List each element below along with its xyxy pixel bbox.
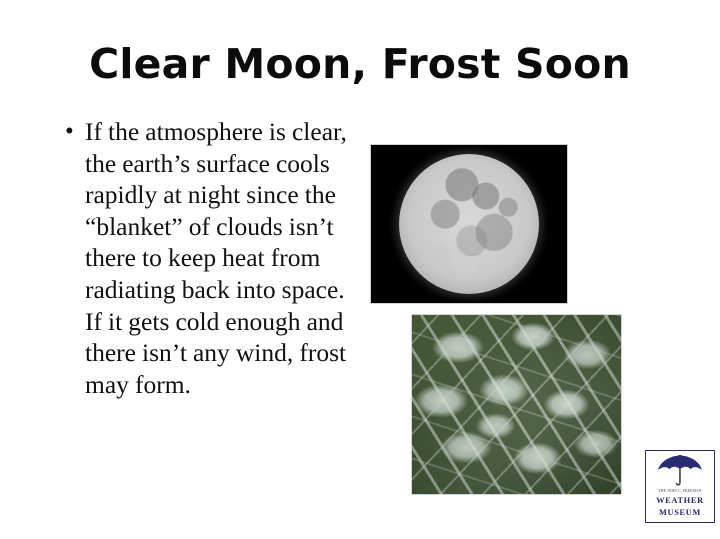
- logo-name-line1: WEATHER: [646, 496, 714, 507]
- body-text-block: • If the atmosphere is clear, the earth’…: [62, 116, 362, 400]
- logo-tagline: THE JOHN C. FREEMAN: [646, 489, 714, 495]
- bullet-list-item: • If the atmosphere is clear, the earth’…: [62, 116, 362, 400]
- bullet-item-text: If the atmosphere is clear, the earth’s …: [85, 116, 362, 400]
- umbrella-icon: [646, 455, 714, 489]
- weather-museum-logo: THE JOHN C. FREEMAN WEATHER MUSEUM: [645, 450, 715, 523]
- presentation-slide: Clear Moon, Frost Soon • If the atmosphe…: [0, 0, 720, 539]
- frost-on-plants-photo: [411, 314, 622, 495]
- full-moon-photo: [370, 144, 568, 304]
- photo-vignette-layer: [412, 315, 621, 494]
- moon-disc-graphic: [399, 154, 539, 294]
- logo-name-line2: MUSEUM: [646, 508, 714, 519]
- bullet-point-icon: •: [62, 116, 85, 147]
- page-title: Clear Moon, Frost Soon: [0, 42, 720, 87]
